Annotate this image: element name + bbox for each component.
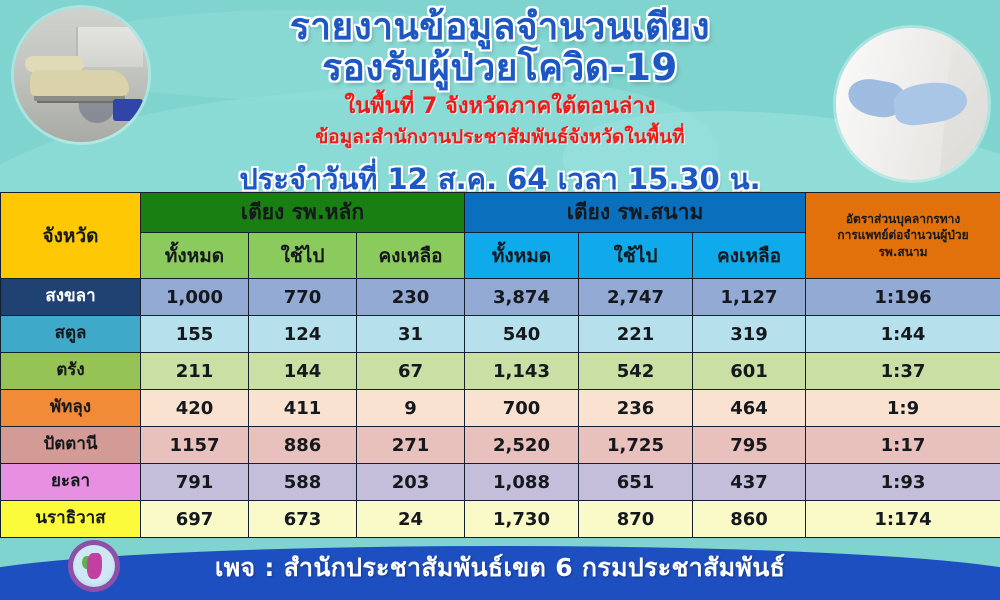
ward-wall-panel [76,27,143,67]
cell-field-total: 1,730 [465,501,579,538]
cell-field-left: 601 [693,353,806,390]
infographic-page: รายงานข้อมูลจำนวนเตียง รองรับผู้ป่วยโควิ… [0,0,1000,600]
cell-main-left: 271 [357,427,465,464]
cell-main-used: 770 [249,279,357,316]
cell-main-used: 886 [249,427,357,464]
cell-field-left: 1,127 [693,279,806,316]
cell-staff-ratio: 1:44 [806,316,1000,353]
cell-field-used: 221 [579,316,693,353]
subtitle-area: ในพื้นที่ 7 จังหวัดภาคใต้ตอนล่าง [160,94,840,121]
page-title-line-1: รายงานข้อมูลจำนวนเตียง [160,6,840,47]
table-row: สงขลา1,0007702303,8742,7471,1271:196 [1,279,1000,316]
row-province-label: สงขลา [1,279,141,316]
data-table-container: จังหวัด เตียง รพ.หลัก เตียง รพ.สนาม อัตร… [0,192,1000,540]
cell-field-used: 870 [579,501,693,538]
cell-field-total: 1,143 [465,353,579,390]
cell-field-left: 464 [693,390,806,427]
cell-field-used: 236 [579,390,693,427]
cell-field-used: 1,725 [579,427,693,464]
cell-staff-ratio: 1:93 [806,464,1000,501]
hospital-ward-photo [14,8,148,142]
table-row: ปัตตานี11578862712,5201,7257951:17 [1,427,1000,464]
cell-field-total: 540 [465,316,579,353]
cell-main-total: 791 [141,464,249,501]
cell-field-total: 1,088 [465,464,579,501]
col-header-main-total: ทั้งหมด [141,233,249,279]
footer-page-credit: เพจ : สำนักประชาสัมพันธ์เขต 6 กรมประชาสั… [0,548,1000,588]
subtitle-source: ข้อมูล:สำนักงานประชาสัมพันธ์จังหวัดในพื้… [160,126,840,149]
header-banner: รายงานข้อมูลจำนวนเตียง รองรับผู้ป่วยโควิ… [0,0,1000,192]
col-header-field-total: ทั้งหมด [465,233,579,279]
title-block: รายงานข้อมูลจำนวนเตียง รองรับผู้ป่วยโควิ… [160,6,840,202]
cell-main-total: 211 [141,353,249,390]
col-group-field-hospital: เตียง รพ.สนาม [465,193,806,233]
cell-staff-ratio: 1:17 [806,427,1000,464]
table-row: พัทลุง42041197002364641:9 [1,390,1000,427]
col-header-province: จังหวัด [1,193,141,279]
table-row: ยะลา7915882031,0886514371:93 [1,464,1000,501]
footer-bar: เพจ : สำนักประชาสัมพันธ์เขต 6 กรมประชาสั… [0,540,1000,600]
cell-main-left: 24 [357,501,465,538]
cell-field-left: 319 [693,316,806,353]
cell-main-total: 155 [141,316,249,353]
cell-main-left: 31 [357,316,465,353]
cell-main-used: 411 [249,390,357,427]
table-header-row-groups: จังหวัด เตียง รพ.หลัก เตียง รพ.สนาม อัตร… [1,193,1000,233]
doctor-gloves-photo [836,28,988,180]
cell-main-left: 9 [357,390,465,427]
table-row: ตรัง211144671,1435426011:37 [1,353,1000,390]
cell-field-left: 860 [693,501,806,538]
cell-staff-ratio: 1:9 [806,390,1000,427]
cell-main-left: 67 [357,353,465,390]
staff-ratio-line-2: การแพทย์ต่อจำนวนผู้ป่วย [837,228,968,242]
cell-field-used: 542 [579,353,693,390]
cell-main-used: 124 [249,316,357,353]
cell-main-left: 203 [357,464,465,501]
col-group-main-hospital: เตียง รพ.หลัก [141,193,465,233]
cell-main-total: 1,000 [141,279,249,316]
table-row: สตูล155124315402213191:44 [1,316,1000,353]
cell-main-total: 1157 [141,427,249,464]
row-province-label: พัทลุง [1,390,141,427]
cell-main-total: 420 [141,390,249,427]
page-title-line-2: รองรับผู้ป่วยโควิด-19 [160,47,840,88]
row-province-label: สตูล [1,316,141,353]
cell-staff-ratio: 1:174 [806,501,1000,538]
table-body: สงขลา1,0007702303,8742,7471,1271:196สตูล… [1,279,1000,538]
col-header-field-used: ใช้ไป [579,233,693,279]
cell-main-used: 588 [249,464,357,501]
table-head: จังหวัด เตียง รพ.หลัก เตียง รพ.สนาม อัตร… [1,193,1000,279]
row-province-label: ยะลา [1,464,141,501]
cell-main-used: 144 [249,353,357,390]
row-province-label: นราธิวาส [1,501,141,538]
cell-field-total: 700 [465,390,579,427]
cell-field-total: 3,874 [465,279,579,316]
cell-field-used: 2,747 [579,279,693,316]
col-header-staff-ratio: อัตราส่วนบุคลากรทาง การแพทย์ต่อจำนวนผู้ป… [806,193,1000,279]
col-header-field-left: คงเหลือ [693,233,806,279]
row-province-label: ตรัง [1,353,141,390]
cell-field-left: 795 [693,427,806,464]
cell-main-total: 697 [141,501,249,538]
cell-staff-ratio: 1:196 [806,279,1000,316]
ward-blue-equipment [113,99,142,120]
col-header-main-left: คงเหลือ [357,233,465,279]
row-province-label: ปัตตานี [1,427,141,464]
staff-ratio-line-3: รพ.สนาม [878,245,927,259]
cell-field-left: 437 [693,464,806,501]
cell-staff-ratio: 1:37 [806,353,1000,390]
ward-bed-primary [30,70,129,97]
table-row: นราธิวาส697673241,7308708601:174 [1,501,1000,538]
staff-ratio-line-1: อัตราส่วนบุคลากรทาง [846,212,960,226]
bed-capacity-table: จังหวัด เตียง รพ.หลัก เตียง รพ.สนาม อัตร… [0,192,1000,538]
cell-field-used: 651 [579,464,693,501]
cell-field-total: 2,520 [465,427,579,464]
cell-main-left: 230 [357,279,465,316]
cell-main-used: 673 [249,501,357,538]
col-header-main-used: ใช้ไป [249,233,357,279]
